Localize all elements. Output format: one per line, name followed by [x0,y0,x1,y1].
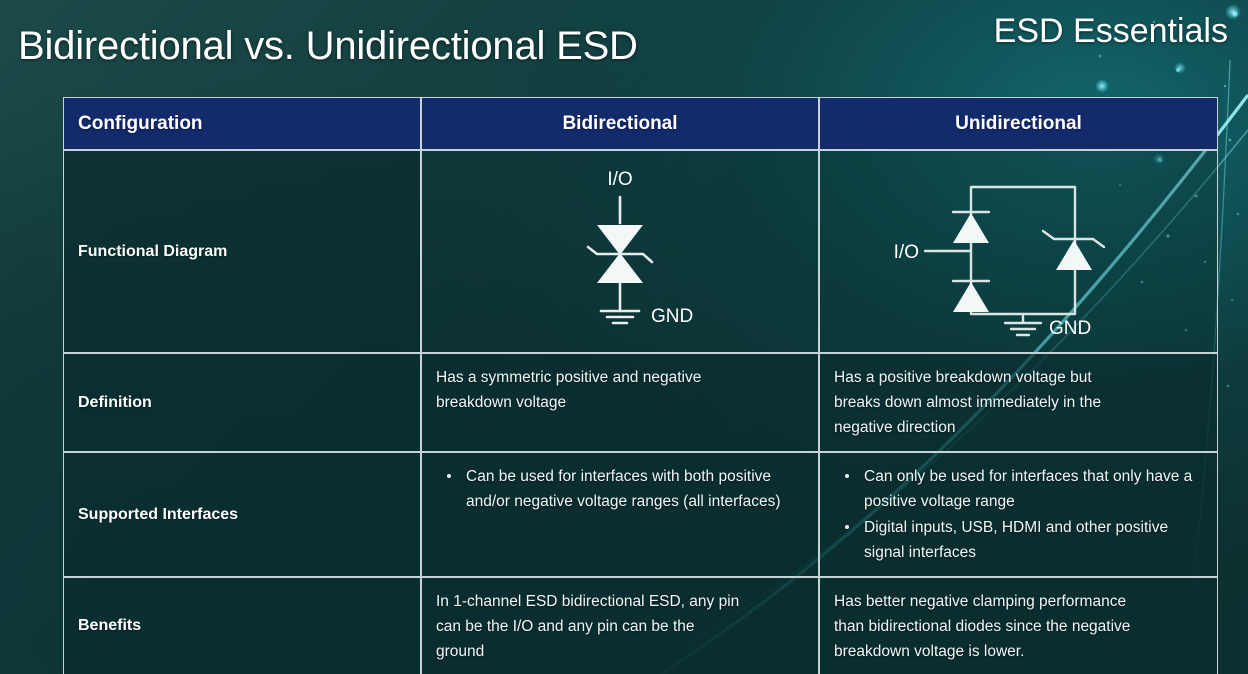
text-line: Has better negative clamping performance [834,589,1203,614]
circuit-rails [971,187,1075,314]
table-row: Supported Interfaces Can be used for int… [63,452,1218,576]
list-item: Can only be used for interfaces that onl… [854,464,1203,514]
table-row: Definition Has a symmetric positive and … [63,353,1218,452]
cell-unidirectional-diagram: I/O GND [819,150,1218,353]
table-header: Configuration Bidirectional Unidirection… [63,97,1218,150]
steering-diode-upper-triangle [953,213,989,243]
gnd-label: GND [1049,318,1091,339]
row-label-supported-interfaces: Supported Interfaces [63,452,421,576]
bullet-list: Can only be used for interfaces that onl… [834,464,1203,564]
cell-definition-unidirectional: Has a positive breakdown voltage but bre… [819,353,1218,452]
cell-bidirectional-diagram: I/O GND [421,150,819,353]
text-line: Has a positive breakdown voltage but [834,365,1203,390]
text-line: Has a symmetric positive and negative [436,365,804,390]
page-title: Bidirectional vs. Unidirectional ESD [18,24,638,69]
row-label-definition: Definition [63,353,421,452]
definition-bidirectional-text: Has a symmetric positive and negative br… [436,365,804,415]
table-row: Functional Diagram [63,150,1218,353]
cell-supported-interfaces-unidirectional: Can only be used for interfaces that onl… [819,452,1218,576]
unidirectional-esd-diagram-icon: I/O GND [879,157,1159,347]
cell-definition-bidirectional: Has a symmetric positive and negative br… [421,353,819,452]
list-item: Digital inputs, USB, HDMI and other posi… [854,515,1203,565]
slide-eyebrow-label: ESD Essentials [994,12,1228,51]
text-line: ground [436,639,804,664]
comparison-table: Configuration Bidirectional Unidirection… [63,97,1218,674]
io-label: I/O [893,242,918,263]
cell-supported-interfaces-bidirectional: Can be used for interfaces with both pos… [421,452,819,576]
column-header-unidirectional: Unidirectional [819,97,1218,150]
table-row: Benefits In 1-channel ESD bidirectional … [63,577,1218,674]
row-label-benefits: Benefits [63,577,421,674]
text-line: than bidirectional diodes since the nega… [834,614,1203,639]
benefits-bidirectional-text: In 1-channel ESD bidirectional ESD, any … [436,589,804,664]
list-item: Can be used for interfaces with both pos… [456,464,804,514]
table-body: Functional Diagram [63,150,1218,674]
io-label: I/O [607,169,632,190]
zener-triangle-upper [597,225,643,255]
benefits-unidirectional-text: Has better negative clamping performance… [834,589,1203,664]
text-line: can be the I/O and any pin can be the [436,614,804,639]
definition-unidirectional-text: Has a positive breakdown voltage but bre… [834,365,1203,440]
text-line: negative direction [834,415,1203,440]
bullet-list: Can be used for interfaces with both pos… [436,464,804,514]
zener-triangle-lower [597,253,643,283]
zener-clamp-triangle [1056,240,1092,270]
bidirectional-tvs-diagram-icon: I/O GND [525,159,715,344]
column-header-configuration: Configuration [63,97,421,150]
column-header-bidirectional: Bidirectional [421,97,819,150]
steering-diode-lower-triangle [953,282,989,312]
row-label-functional-diagram: Functional Diagram [63,150,421,353]
text-line: breaks down almost immediately in the [834,390,1203,415]
text-line: In 1-channel ESD bidirectional ESD, any … [436,589,804,614]
gnd-label: GND [651,306,693,327]
cell-benefits-unidirectional: Has better negative clamping performance… [819,577,1218,674]
table-header-row: Configuration Bidirectional Unidirection… [63,97,1218,150]
text-line: breakdown voltage [436,390,804,415]
text-line: breakdown voltage is lower. [834,639,1203,664]
slide-canvas: Bidirectional vs. Unidirectional ESD ESD… [0,0,1248,674]
cell-benefits-bidirectional: In 1-channel ESD bidirectional ESD, any … [421,577,819,674]
